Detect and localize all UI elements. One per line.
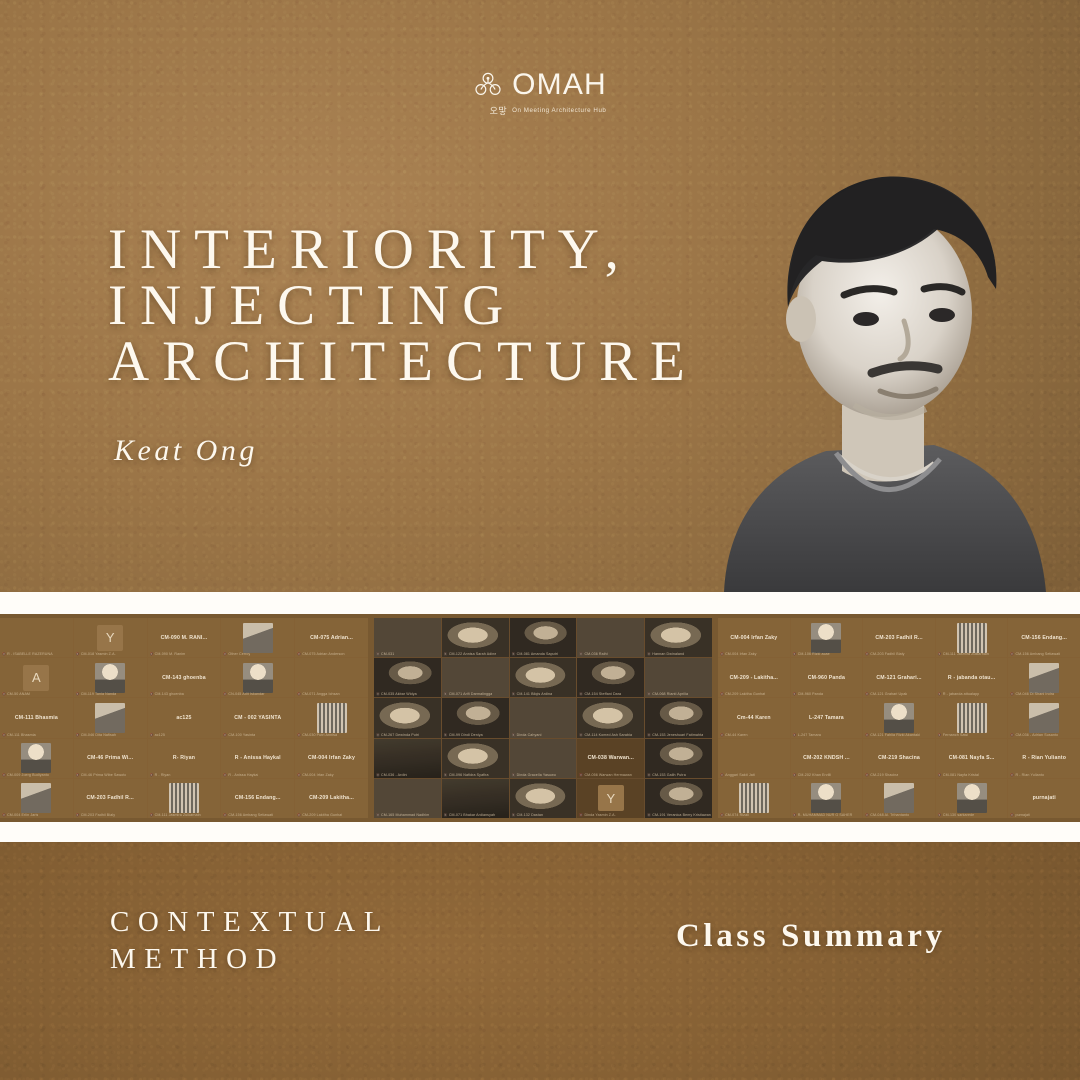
participant-name-badge: CM-114 Komed Ash Sarabia [579, 733, 632, 737]
participant-display-name: CM-075 Adrian... [308, 635, 355, 641]
participant-display-name: ac125 [174, 715, 193, 721]
participant-name-badge: CM-036 - Ardini [376, 773, 408, 777]
participant-tile[interactable]: Dinda Cahyani [510, 698, 577, 737]
participant-tile[interactable]: CM-203 Fadhil R...CM-203 Fadhil Bialy [74, 779, 147, 818]
participant-tile[interactable]: CN-045 Adit Iskandar [221, 658, 294, 697]
participant-display-name: L-247 Tamara [807, 715, 846, 721]
participant-thumbnail [739, 783, 769, 813]
participant-display-name: CM-46 Prima Wi... [85, 755, 135, 761]
participant-name-badge: CM-004 Erlin Jaris [2, 813, 38, 817]
participant-display-name: purnajati [1031, 795, 1058, 801]
participant-name-badge: CM-122 Annisa Sarah Adine [444, 652, 497, 656]
participant-tile[interactable]: Dinda Gracella Yasuwo [510, 739, 577, 778]
participant-thumbnail [95, 703, 125, 733]
participant-tile[interactable]: CM-121 Fahlia Rizki Akantaki [863, 698, 935, 737]
participant-tile[interactable]: CM-071 Arifi Darmalingga [442, 658, 509, 697]
divider-top [0, 592, 1080, 614]
participant-name-badge: CM-209 Lakitha Gunhat [297, 813, 342, 817]
participant-name-badge: CM-219 Shacina [865, 773, 898, 777]
participant-name-badge: CM-030 Putri Annisa [297, 733, 337, 737]
participant-display-name: Cm-44 Karen [735, 715, 773, 721]
brand-tagline: On Meeting Architecture Hub [512, 107, 606, 114]
participant-tile[interactable]: CM-191 Veranica Bemy Kristiawan [645, 779, 712, 818]
participant-avatar: A [23, 665, 49, 691]
participant-name-badge: CM-50 ANAM [2, 692, 30, 696]
participant-name-badge: CM-203 Fadhil Bialy [76, 813, 115, 817]
participant-tile[interactable]: Other Cerroy [221, 618, 294, 657]
participant-tile[interactable]: CM-141 Bilqis Ardina [510, 658, 577, 697]
participant-tile[interactable]: Cm-44 KarenCM-44 Karen [718, 698, 790, 737]
participant-name-badge: CM-141 Bilqis Ardina [512, 692, 553, 696]
participant-thumbnail [243, 663, 273, 693]
participant-name-badge: CM-203 Fadhil Bialy [865, 652, 904, 656]
participant-name-badge: CM-004 Irfan Zaky [720, 652, 757, 656]
participant-name-badge: CM-111 Jasmira Zulkarnain [938, 652, 989, 656]
participant-tile[interactable]: CM-132 Dastan [510, 779, 577, 818]
participant-tile[interactable]: CM-046 Dita Nafisah [74, 698, 147, 737]
participant-name-badge: CM-153 Jeneshuari Fatimahta [647, 733, 703, 737]
participant-name-badge: CM-036 Raihi [579, 652, 607, 656]
participant-name-badge: CM-009 Joerg Budiyanto [2, 773, 49, 777]
panel-mid: CM-031CM-122 Annisa Sarah AdineCM-081 Am… [374, 618, 712, 818]
participant-name-badge: CM-153 Galih Putra [647, 773, 686, 777]
participant-name-badge: CM-209 Lakitha Gunhat [720, 692, 765, 696]
participant-thumbnail [1029, 703, 1059, 733]
participant-tile[interactable]: CM-036 - Adrian Susanto [1008, 698, 1080, 737]
participant-tile[interactable]: R - Rian YuliantoR - Rian Yulianto [1008, 739, 1080, 778]
participant-tile[interactable]: Hannan Dwinaland [645, 618, 712, 657]
participant-name-badge: purnajati [1010, 813, 1030, 817]
participant-display-name: CM-121 Grahari... [874, 675, 923, 681]
participant-display-name: CM-081 Nayfa S... [947, 755, 997, 761]
participant-name-badge: Dinda Cahyani [512, 733, 542, 737]
participant-display-name: CM-219 Shacina [876, 755, 922, 761]
participant-name-badge: CM-165 Muhammad Nadhim [376, 813, 429, 817]
participant-display-name: CM-143 ghoenba [160, 675, 208, 681]
participant-tile[interactable]: CM-004 Erlin Jaris [0, 779, 73, 818]
participant-name-badge: CM-004 Irfan Zaky [297, 773, 334, 777]
participant-name-badge: Other Cerroy [223, 652, 250, 656]
participant-tile[interactable]: ACM-50 ANAM [0, 658, 73, 697]
gallery-panels: R - ISABELLE RAZERUNAYCM-018 Yasmin Z.A.… [0, 614, 1080, 822]
participant-thumbnail [884, 703, 914, 733]
participant-tile[interactable]: CM-209 Lakitha...CM-209 Lakitha Gunhat [295, 779, 368, 818]
participant-tile[interactable]: ac125ac125 [148, 698, 221, 737]
participant-thumbnail [884, 783, 914, 813]
participant-tile[interactable]: CM-111 Jasmira Zulkarnain [936, 618, 1008, 657]
participant-name-badge: CM-071 Bhakar Ardiansyah [444, 813, 495, 817]
participant-thumbnail [95, 663, 125, 693]
participant-name-badge: CM-143 ghoenba [150, 692, 184, 696]
participant-tile[interactable]: CM-114 Komed Ash Sarabia [577, 698, 644, 737]
participant-tile[interactable]: R - jabanda otau...R - jabanda attualapp [936, 658, 1008, 697]
participant-display-name: CM-156 Endang... [233, 795, 283, 801]
participant-name-badge: Anggari Sakti Jati [720, 773, 755, 777]
participant-tile[interactable]: purnajatipurnajati [1008, 779, 1080, 818]
participant-name-badge: R - jabanda attualapp [938, 692, 980, 696]
participant-tile[interactable]: CM-122 Annisa Sarah Adine [442, 618, 509, 657]
participant-display-name: CM-004 Irfan Zaky [306, 755, 357, 761]
panel-right: CM-004 Irfan ZakyCM-004 Irfan ZakyCM-106… [718, 618, 1080, 818]
participant-thumbnail [811, 623, 841, 653]
participant-tile[interactable]: CM-081 Nayfa S...CM-081 Nayfa Kristal [936, 739, 1008, 778]
participant-name-badge: CM-156 Ambang Setiawati [223, 813, 273, 817]
participant-tile[interactable]: CM-143 ghoenbaCM-143 ghoenba [148, 658, 221, 697]
participant-avatar: Y [97, 625, 123, 651]
participant-tile[interactable]: CM-090 M. RANI...CM-090 M. Ranim [148, 618, 221, 657]
participant-tile[interactable]: CM-111 Jasmira Zulkarnain [148, 779, 221, 818]
participant-name-badge: CM-202 Khan Ervilli [793, 773, 832, 777]
participant-tile[interactable]: YDinda Yasmin Z.A. [577, 779, 644, 818]
participant-name-badge: ac125 [150, 733, 165, 737]
participant-thumbnail [957, 703, 987, 733]
participant-display-name: R - Rian Yulianto [1020, 755, 1068, 761]
participant-display-name: CM - 002 YASINTA [232, 715, 283, 721]
participant-name-badge: Dinda Gracella Yasuwo [512, 773, 556, 777]
participant-name-badge: CM-096 Nafidra Syafira [444, 773, 489, 777]
participant-tile[interactable]: CM-219 ShacinaCM-219 Shacina [863, 739, 935, 778]
participant-tile[interactable]: CM-035 Akbar Widya [374, 658, 441, 697]
participant-name-badge: CM-074 Rizali [720, 813, 749, 817]
participant-thumbnail [957, 623, 987, 653]
participant-tile[interactable]: CM-46 Prima Wi...CM-46 Prima Wibe Sawoto [74, 739, 147, 778]
hero-text-block: INTERIORITY, INJECTING ARCHITECTURE Keat… [108, 222, 698, 468]
participant-tile[interactable]: CM-068 Rianti Aprilia [645, 658, 712, 697]
participant-grid: CM-004 Irfan ZakyCM-004 Irfan ZakyCM-106… [718, 618, 1080, 818]
participant-name-badge: CM-048 Al. Trihantanto [865, 813, 909, 817]
participant-name-badge: CM-44 Karen [720, 733, 748, 737]
participant-tile[interactable]: CM - 002 YASINTACM-100 Yasinta [221, 698, 294, 737]
participant-name-badge: CM-081 Amanda Saputri [512, 652, 559, 656]
participant-name-badge: CM-99 Dindi Deniya [444, 733, 483, 737]
participant-name-badge: R - Anissa Haykal [223, 773, 258, 777]
participant-tile[interactable]: CM-99 Dindi Deniya [442, 698, 509, 737]
participant-thumbnail [21, 783, 51, 813]
participant-name-badge: R - ISABELLE RAZERUNA [2, 652, 53, 656]
participant-tile[interactable]: CM-106 Rizki acae [791, 618, 863, 657]
participant-name-badge: Dinda Yasmin Z.A. [579, 813, 615, 817]
speaker-portrait [666, 137, 1080, 592]
participant-thumbnail [811, 783, 841, 813]
participant-avatar: Y [598, 785, 624, 811]
participant-name-badge: CM-156 Ambang Setiawati [1010, 652, 1060, 656]
participant-tile[interactable]: R - ISABELLE RAZERUNA [0, 618, 73, 657]
participant-display-name: CM-203 Fadhil R... [873, 635, 924, 641]
participant-name-badge: CM-081 Nayfa Kristal [938, 773, 979, 777]
participant-tile[interactable]: R- MUHAMMAD NUR G SAHER [791, 779, 863, 818]
participant-name-badge: CM-121 Grahari Upak [865, 692, 907, 696]
participant-tile[interactable]: CM-036 - Ardini [374, 739, 441, 778]
participant-tile[interactable]: CM-153 Galih Putra [645, 739, 712, 778]
page-title: INTERIORITY, INJECTING ARCHITECTURE [108, 222, 698, 390]
participant-tile[interactable]: YCM-018 Yasmin Z.A. [74, 618, 147, 657]
participant-tile[interactable]: Fernanch Sawi [936, 698, 1008, 737]
participant-name-badge: Hannan Dwinaland [647, 652, 684, 656]
participant-tile[interactable]: CM-153 Jeneshuari Fatimahta [645, 698, 712, 737]
brand-subtitle: 오맣 On Meeting Architecture Hub [490, 104, 607, 117]
section-label: CONTEXTUAL METHOD [110, 904, 390, 978]
participant-name-badge: CM-46 Prima Wibe Sawoto [76, 773, 127, 777]
participant-name-badge: CM-071 Arifi Darmalingga [444, 692, 493, 696]
panel-left: R - ISABELLE RAZERUNAYCM-018 Yasmin Z.A.… [0, 618, 368, 818]
participant-name-badge: CM-119 Tania Nanda [76, 692, 117, 696]
participant-tile[interactable]: CM-156 Endang...CM-156 Ambang Setiawati [221, 779, 294, 818]
participant-tile[interactable]: CM-036 Raihi [577, 618, 644, 657]
participant-name-badge: CM-100 Yasinta [223, 733, 255, 737]
participant-name-badge: R - Rian Yulianto [1010, 773, 1044, 777]
participant-thumbnail [21, 743, 51, 773]
footer-section: CONTEXTUAL METHOD Class Summary [0, 842, 1080, 1080]
participant-display-name: CM-202 KNDSH ... [801, 755, 852, 761]
participant-name-badge: CM-111 Jasmira Zulkarnain [150, 813, 201, 817]
participant-tile[interactable]: CM-165 Muhammad Nadhim [374, 779, 441, 818]
participant-name-badge: CN-045 Adit Iskandar [223, 692, 264, 696]
divider-bottom [0, 822, 1080, 842]
participant-name-badge: CM-111 Bhasmia [2, 733, 36, 737]
participant-thumbnail [1029, 663, 1059, 693]
participant-display-name: CM-111 Bhasmia [13, 715, 60, 721]
participant-tile[interactable]: CM-075 Adrian...CM-075 Adrian Anderson [295, 618, 368, 657]
participant-name-badge: CM-071 Angga Ichsan [297, 692, 340, 696]
participant-tile[interactable]: CM-004 Irfan ZakyCM-004 Irfan Zaky [718, 618, 790, 657]
participant-name-badge: CM-267 Dewinda Putri [376, 733, 419, 737]
participant-tile[interactable]: CM-203 Fadhil R...CM-203 Fadhil Bialy [863, 618, 935, 657]
participant-tile[interactable]: CM-111 BhasmiaCM-111 Bhasmia [0, 698, 73, 737]
poster-root: OMAH 오맣 On Meeting Architecture Hub [0, 0, 1080, 1080]
participant-name-badge: CM-106 Rizki acae [793, 652, 830, 656]
participant-name-badge: CM-154 Steffani Dara [579, 692, 621, 696]
participant-display-name: CM-209 - Lakitha... [728, 675, 780, 681]
participant-display-name: CM-156 Endang... [1019, 635, 1069, 641]
brand-logo-row: OMAH [473, 68, 607, 102]
brand-logo: OMAH 오맣 On Meeting Architecture Hub [0, 68, 1080, 117]
three-circles-logo-icon [473, 70, 503, 100]
participant-tile[interactable]: CM-009 Joerg Budiyanto [0, 739, 73, 778]
participant-display-name: R - jabanda otau... [946, 675, 998, 681]
speaker-name: Keat Ong [114, 434, 698, 468]
participant-thumbnail [317, 703, 347, 733]
participant-grid: CM-031CM-122 Annisa Sarah AdineCM-081 Am… [374, 618, 712, 818]
participant-name-badge: CM-075 Adrian Anderson [297, 652, 344, 656]
participant-tile[interactable]: R- RiyanR - Riyan [148, 739, 221, 778]
participant-tile[interactable]: CM-096 Nafidra Syafira [442, 739, 509, 778]
participant-thumbnail [957, 783, 987, 813]
participant-name-badge: CM-191 Veranica Bemy Kristiawan [647, 813, 711, 817]
participant-display-name: CM-209 Lakitha... [307, 795, 356, 801]
participant-grid: R - ISABELLE RAZERUNAYCM-018 Yasmin Z.A.… [0, 618, 368, 818]
participant-display-name: CM-004 Irfan Zaky [728, 635, 779, 641]
participant-name-badge: Fernanch Sawi [938, 733, 968, 737]
participant-name-badge: CM-130 sarkarede [938, 813, 974, 817]
brand-cjk-mark: 오맣 [490, 104, 508, 117]
participant-tile[interactable]: CM-046 Di Shani Indra [1008, 658, 1080, 697]
participant-tile[interactable]: CM-071 Angga Ichsan [295, 658, 368, 697]
participant-tile[interactable]: CM-119 Tania Nanda [74, 658, 147, 697]
participant-tile[interactable]: CM-031 [374, 618, 441, 657]
participant-name-badge: CM-031 [376, 652, 394, 656]
participant-name-badge: CM-121 Fahlia Rizki Akantaki [865, 733, 920, 737]
participant-tile[interactable]: CM-121 Grahari...CM-121 Grahari Upak [863, 658, 935, 697]
participant-name-badge: CM-132 Dastan [512, 813, 544, 817]
participant-tile[interactable]: CM-209 - Lakitha...CM-209 Lakitha Gunhat [718, 658, 790, 697]
participant-tile[interactable]: CM-130 sarkarede [936, 779, 1008, 818]
participant-tile[interactable]: CM-038 Warwan...CM-056 Warwan Hermawan [577, 739, 644, 778]
brand-name: OMAH [512, 68, 607, 102]
participant-name-badge: CM-035 Akbar Widya [376, 692, 417, 696]
participant-tile[interactable]: L-247 TamaraL-247 Tamara [791, 698, 863, 737]
participant-tile[interactable]: Anggari Sakti Jati [718, 739, 790, 778]
participant-tile[interactable]: CM-074 Rizali [718, 779, 790, 818]
participant-name-badge: CM-090 M. Ranim [150, 652, 186, 656]
participant-name-badge: CM-036 - Adrian Susanto [1010, 733, 1058, 737]
participant-display-name: CM-960 Panda [806, 675, 847, 681]
participant-tile[interactable]: CM-081 Amanda Saputri [510, 618, 577, 657]
participant-tile[interactable]: CM-267 Dewinda Putri [374, 698, 441, 737]
participant-name-badge: CM-068 Rianti Aprilia [647, 692, 688, 696]
participant-name-badge: CM-046 Dita Nafisah [76, 733, 116, 737]
participant-name-badge: CM-960 Panda [793, 692, 823, 696]
participant-thumbnail [169, 783, 199, 813]
participant-tile[interactable]: R - Anissa HaykalR - Anissa Haykal [221, 739, 294, 778]
participant-tile[interactable]: CM-004 Irfan ZakyCM-004 Irfan Zaky [295, 739, 368, 778]
participant-name-badge: R- MUHAMMAD NUR G SAHER [793, 813, 853, 817]
participant-display-name: R- Riyan [171, 755, 197, 761]
participant-display-name: CM-038 Warwan... [586, 755, 636, 761]
participant-tile[interactable]: CM-156 Endang...CM-156 Ambang Setiawati [1008, 618, 1080, 657]
participant-display-name: CM-203 Fadhil R... [84, 795, 135, 801]
participant-tile[interactable]: CM-048 Al. Trihantanto [863, 779, 935, 818]
participant-thumbnail [243, 623, 273, 653]
video-gallery-strip: R - ISABELLE RAZERUNAYCM-018 Yasmin Z.A.… [0, 614, 1080, 822]
participant-tile[interactable]: CM-030 Putri Annisa [295, 698, 368, 737]
participant-name-badge: CM-018 Yasmin Z.A. [76, 652, 116, 656]
participant-name-badge: CM-056 Warwan Hermawan [579, 773, 631, 777]
hero-section: OMAH 오맣 On Meeting Architecture Hub [0, 0, 1080, 592]
participant-tile[interactable]: CM-154 Steffani Dara [577, 658, 644, 697]
participant-tile[interactable]: CM-202 KNDSH ...CM-202 Khan Ervilli [791, 739, 863, 778]
participant-name-badge: R - Riyan [150, 773, 171, 777]
participant-tile[interactable]: CM-960 PandaCM-960 Panda [791, 658, 863, 697]
participant-name-badge: CM-046 Di Shani Indra [1010, 692, 1054, 696]
class-summary-label: Class Summary [676, 918, 946, 955]
participant-tile[interactable]: CM-071 Bhakar Ardiansyah [442, 779, 509, 818]
participant-name-badge: L-247 Tamara [793, 733, 821, 737]
participant-display-name: R - Anissa Haykal [233, 755, 283, 761]
participant-display-name: CM-090 M. RANI... [159, 635, 210, 641]
